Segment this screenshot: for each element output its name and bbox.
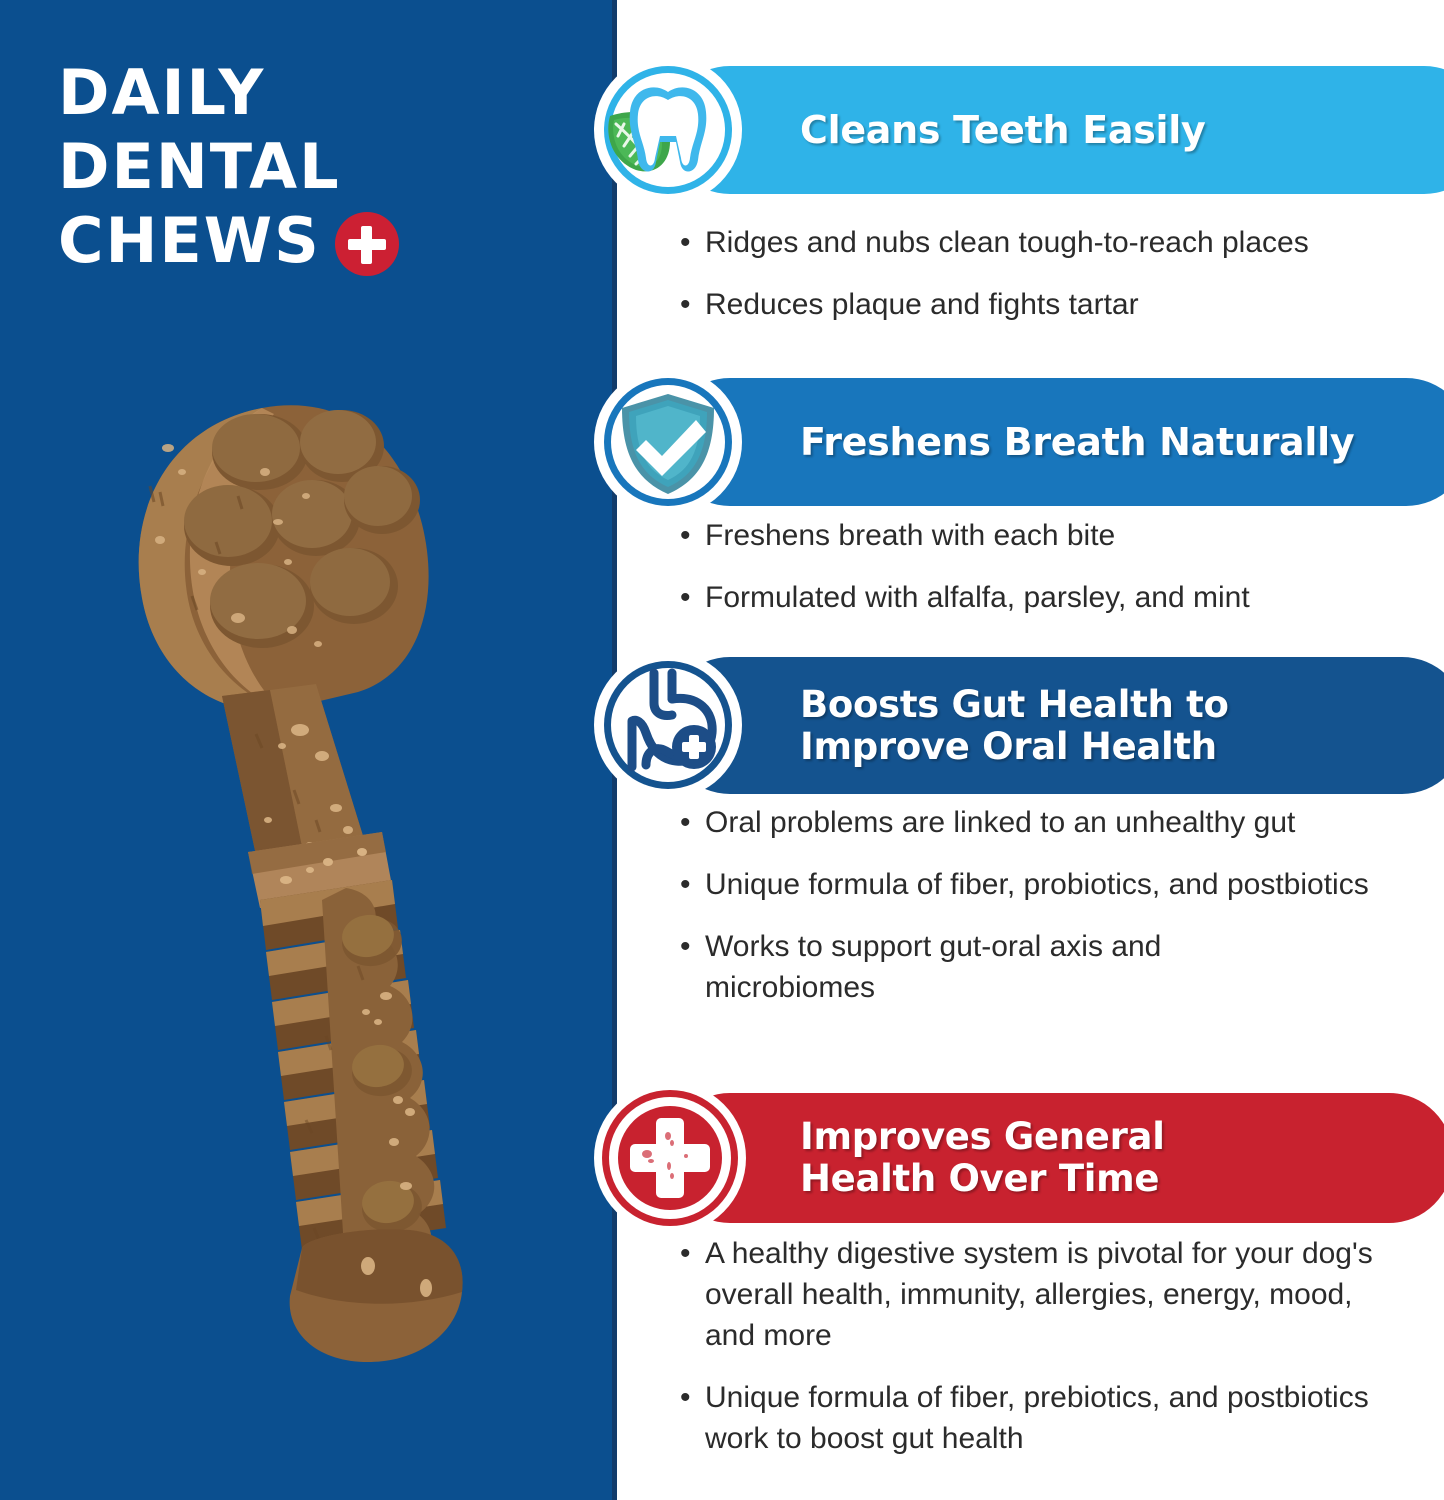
bullet-item: • Formulated with alfalfa, parsley, and … xyxy=(680,577,1444,618)
bullet-dot: • xyxy=(680,515,705,556)
section-4-pill: Improves General Health Over Time xyxy=(666,1093,1444,1223)
bullet-text: A healthy digestive system is pivotal fo… xyxy=(705,1233,1395,1356)
bullet-dot: • xyxy=(680,577,705,618)
bullet-text: Reduces plaque and fights tartar xyxy=(705,284,1444,325)
section-3-pill: Boosts Gut Health to Improve Oral Health xyxy=(666,657,1444,794)
bullet-item: • Unique formula of fiber, prebiotics, a… xyxy=(680,1377,1444,1459)
bullet-text: Works to support gut-oral axis and micro… xyxy=(705,926,1305,1008)
bullet-item: • Works to support gut-oral axis and mic… xyxy=(680,926,1444,1008)
section-3-heading-line-1: Boosts Gut Health to xyxy=(800,684,1229,726)
section-2-bullets: • Freshens breath with each bite • Formu… xyxy=(680,515,1444,639)
title-line-2: DENTAL xyxy=(58,130,528,204)
section-3-heading-line-2: Improve Oral Health xyxy=(800,726,1229,768)
bullet-item: • A healthy digestive system is pivotal … xyxy=(680,1233,1444,1356)
section-4-heading-line-2: Health Over Time xyxy=(800,1158,1165,1200)
bullet-dot: • xyxy=(680,926,705,1008)
bullet-text: Ridges and nubs clean tough-to-reach pla… xyxy=(705,222,1444,263)
bullet-item: • Unique formula of fiber, probiotics, a… xyxy=(680,864,1444,905)
bullet-item: • Reduces plaque and fights tartar xyxy=(680,284,1444,325)
chew-bottom-cap-shadow xyxy=(296,1229,463,1304)
bullet-dot: • xyxy=(680,222,705,263)
section-4-heading-line-1: Improves General xyxy=(800,1116,1165,1158)
bullet-text: Unique formula of fiber, prebiotics, and… xyxy=(705,1377,1377,1459)
shield-check-icon xyxy=(594,368,742,516)
bullet-text: Unique formula of fiber, probiotics, and… xyxy=(705,864,1377,905)
section-2-pill: Freshens Breath Naturally xyxy=(666,378,1444,506)
section-3-bullets: • Oral problems are linked to an unhealt… xyxy=(680,802,1444,1029)
bullet-item: • Oral problems are linked to an unhealt… xyxy=(680,802,1444,843)
section-2-heading: Freshens Breath Naturally xyxy=(800,421,1380,464)
section-1-heading: Cleans Teeth Easily xyxy=(800,109,1231,152)
chew-ridged-body xyxy=(260,880,446,1280)
benefits-content: Cleans Teeth Easily • Ridges and nubs cl… xyxy=(617,0,1444,1500)
bullet-dot: • xyxy=(680,864,705,905)
infographic-page: DAILY DENTAL CHEWS xyxy=(0,0,1444,1500)
cross-bar-vertical xyxy=(361,226,372,264)
dog-dental-chew-illustration xyxy=(110,400,530,1420)
bullet-dot: • xyxy=(680,802,705,843)
bullet-item: • Ridges and nubs clean tough-to-reach p… xyxy=(680,222,1444,263)
page-title: DAILY DENTAL CHEWS xyxy=(58,56,528,278)
section-4-heading: Improves General Health Over Time xyxy=(800,1116,1191,1200)
chew-head-nubs xyxy=(184,410,420,648)
section-3-heading: Boosts Gut Health to Improve Oral Health xyxy=(800,684,1255,768)
bullet-dot: • xyxy=(680,284,705,325)
bullet-text: Freshens breath with each bite xyxy=(705,515,1444,556)
tooth-mint-leaf-icon xyxy=(594,56,742,204)
section-4-bullets: • A healthy digestive system is pivotal … xyxy=(680,1233,1444,1480)
title-line-3: CHEWS xyxy=(58,204,321,278)
bullet-text: Oral problems are linked to an unhealthy… xyxy=(705,802,1444,843)
bullet-text: Formulated with alfalfa, parsley, and mi… xyxy=(705,577,1444,618)
bullet-dot: • xyxy=(680,1233,705,1356)
medical-cross-icon xyxy=(594,1082,746,1234)
title-line-1: DAILY xyxy=(58,56,528,130)
section-1-pill: Cleans Teeth Easily xyxy=(666,66,1444,194)
plus-cross-icon xyxy=(335,212,399,276)
section-1-bullets: • Ridges and nubs clean tough-to-reach p… xyxy=(680,222,1444,346)
stomach-plus-icon xyxy=(594,651,742,799)
title-line-3-row: CHEWS xyxy=(58,204,528,278)
bullet-item: • Freshens breath with each bite xyxy=(680,515,1444,556)
bullet-dot: • xyxy=(680,1377,705,1459)
